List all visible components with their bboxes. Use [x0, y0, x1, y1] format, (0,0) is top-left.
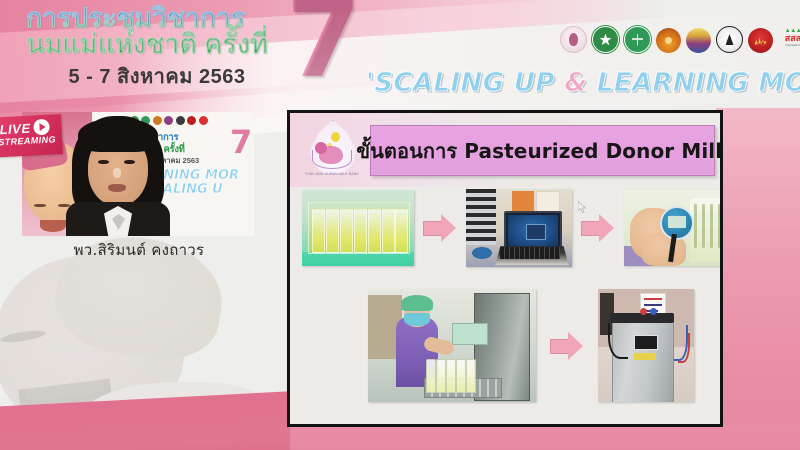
photo3-timer-display — [668, 216, 686, 228]
watermark-eye-left — [0, 328, 46, 344]
photo5-blue-knob — [650, 308, 657, 315]
speaker-eye-right — [124, 160, 135, 164]
photo4-bottle — [436, 359, 446, 393]
photo1-rack — [308, 202, 410, 254]
milk-logo-embracing-arms — [312, 150, 352, 169]
photo1-bottle — [312, 209, 325, 253]
nurse-loading-bottles-photo — [368, 289, 536, 402]
photo1-bottle — [326, 209, 339, 253]
live-streaming-badge[interactable]: LIVE STREAMING — [0, 114, 63, 158]
photo2-screen-window — [526, 224, 546, 240]
edition-number-seven: 7 — [286, 0, 361, 94]
tagline-prefix: 'SCALING UP — [366, 68, 564, 98]
red-crest-logo — [748, 28, 773, 53]
process-arrow-icon — [581, 213, 615, 243]
photo1-floor — [302, 252, 414, 266]
photo5-sign-line — [644, 298, 662, 300]
photo1-bottle — [368, 209, 381, 253]
speaker-nose-highlight — [113, 168, 121, 178]
tagline-ampersand: & — [564, 68, 587, 98]
presentation-slide: การประชุมวิชาการ นมแม่แห่งชาติ ครั้งที่ … — [0, 0, 800, 450]
process-arrow-icon — [550, 331, 584, 361]
slide-content-panel: THAILAND HUMAN MILK BANK ขั้นตอนการ Past… — [287, 110, 723, 427]
photo5-red-hose — [678, 333, 690, 363]
conference-title-block: การประชุมวิชาการ นมแม่แห่งชาติ ครั้งที่ … — [26, 4, 288, 92]
photo5-yellow-label — [634, 353, 656, 360]
milk-drop-highlight-large — [331, 132, 340, 142]
green-cross-logo — [624, 26, 651, 53]
tagline-suffix: LEARNING MORE' — [587, 68, 800, 98]
photo2-mouse — [472, 247, 492, 259]
play-icon — [33, 119, 50, 136]
thaihealth-subtext: THAI HEALTH — [785, 43, 800, 47]
process-row-1 — [302, 189, 723, 267]
speaker-eye-left — [98, 160, 109, 164]
black-seal-logo — [716, 26, 743, 53]
bottom-pink-band — [290, 424, 800, 450]
human-milk-bank-drop-logo: THAILAND HUMAN MILK BANK — [303, 120, 361, 184]
photo3-digital-timer — [660, 206, 694, 240]
backdrop-logo-7 — [187, 116, 196, 125]
speaker-mouth — [108, 184, 126, 192]
thaihealth-label: สสส — [785, 34, 800, 43]
photo4-surgical-mask — [404, 313, 430, 326]
photo4-surgical-cap — [401, 295, 433, 311]
photo5-control-display — [634, 335, 658, 350]
right-pink-band — [716, 108, 800, 450]
streaming-label: STREAMING — [0, 134, 56, 147]
photo5-red-knob — [640, 308, 647, 315]
panel-title-banner: ขั้นตอนการ Pasteurized Donor Milk — [370, 125, 715, 176]
conference-date: 5 - 7 สิงหาคม 2563 — [26, 60, 288, 92]
photo3-tube — [710, 204, 713, 248]
photo2-laptop-lid — [504, 211, 562, 251]
conference-tagline: 'SCALING UP & LEARNING MORE' — [366, 68, 800, 98]
photo1-bottle — [395, 209, 408, 253]
photo3-tube — [718, 204, 721, 248]
photo3-tube — [702, 204, 705, 248]
speaker-bangs — [78, 118, 158, 152]
backdrop-edition-number: 7 — [230, 126, 252, 158]
photo3-bottle-rack — [690, 198, 723, 262]
green-star-logo — [592, 26, 619, 53]
sponsor-logo-row: ▲▲▲ สสส THAI HEALTH — [560, 26, 800, 53]
handheld-timer-photo — [624, 190, 723, 266]
laptop-workstation-photo — [466, 189, 572, 267]
photo4-green-tray — [452, 323, 488, 345]
milk-logo-caption: THAILAND HUMAN MILK BANK — [303, 172, 361, 176]
process-row-2 — [368, 289, 694, 402]
photo5-power-cable — [608, 323, 628, 359]
mouse-cursor-icon — [578, 201, 587, 213]
photo3-tube — [694, 204, 697, 248]
photo1-bottle — [340, 209, 353, 253]
photo5-sign-line — [644, 304, 662, 306]
photo4-bottle — [456, 359, 466, 393]
royal-emblem-logo — [560, 26, 587, 53]
conference-title-line2: นมแม่แห่งชาติ ครั้งที่ — [26, 30, 288, 58]
photo4-bottle — [426, 359, 436, 393]
process-arrow-icon — [423, 213, 457, 243]
photo2-keyboard — [500, 247, 560, 259]
photo1-bottle — [354, 209, 367, 253]
backdrop-logo-6 — [176, 116, 185, 125]
photo1-bottle — [382, 209, 395, 253]
royal-regalia-logo — [686, 28, 711, 53]
speaker-person — [66, 116, 170, 236]
live-label: LIVE — [0, 120, 31, 137]
pasteurizer-machine-photo — [598, 289, 694, 402]
play-triangle — [39, 123, 45, 131]
milk-bottle-racks-photo — [302, 190, 414, 266]
poster-baby-eye-left — [34, 204, 46, 207]
photo2-laptop-screen — [508, 215, 558, 247]
photo4-bottle-group — [426, 353, 482, 393]
orange-pagoda-logo — [656, 28, 681, 53]
photo4-bottle — [466, 359, 476, 393]
poster-baby-smile — [40, 220, 66, 232]
photo4-bottle — [446, 359, 456, 393]
backdrop-logo-8 — [199, 116, 208, 125]
slide-header: การประชุมวิชาการ นมแม่แห่งชาติ ครั้งที่ … — [0, 0, 800, 112]
thaihealth-logo: ▲▲▲ สสส THAI HEALTH — [778, 28, 800, 53]
speaker-name-caption: พว.สิริมนต์ คงถาวร — [24, 238, 254, 262]
panel-title-text: ขั้นตอนการ Pasteurized Donor Milk — [356, 135, 723, 167]
photo2-blinds — [466, 189, 496, 245]
